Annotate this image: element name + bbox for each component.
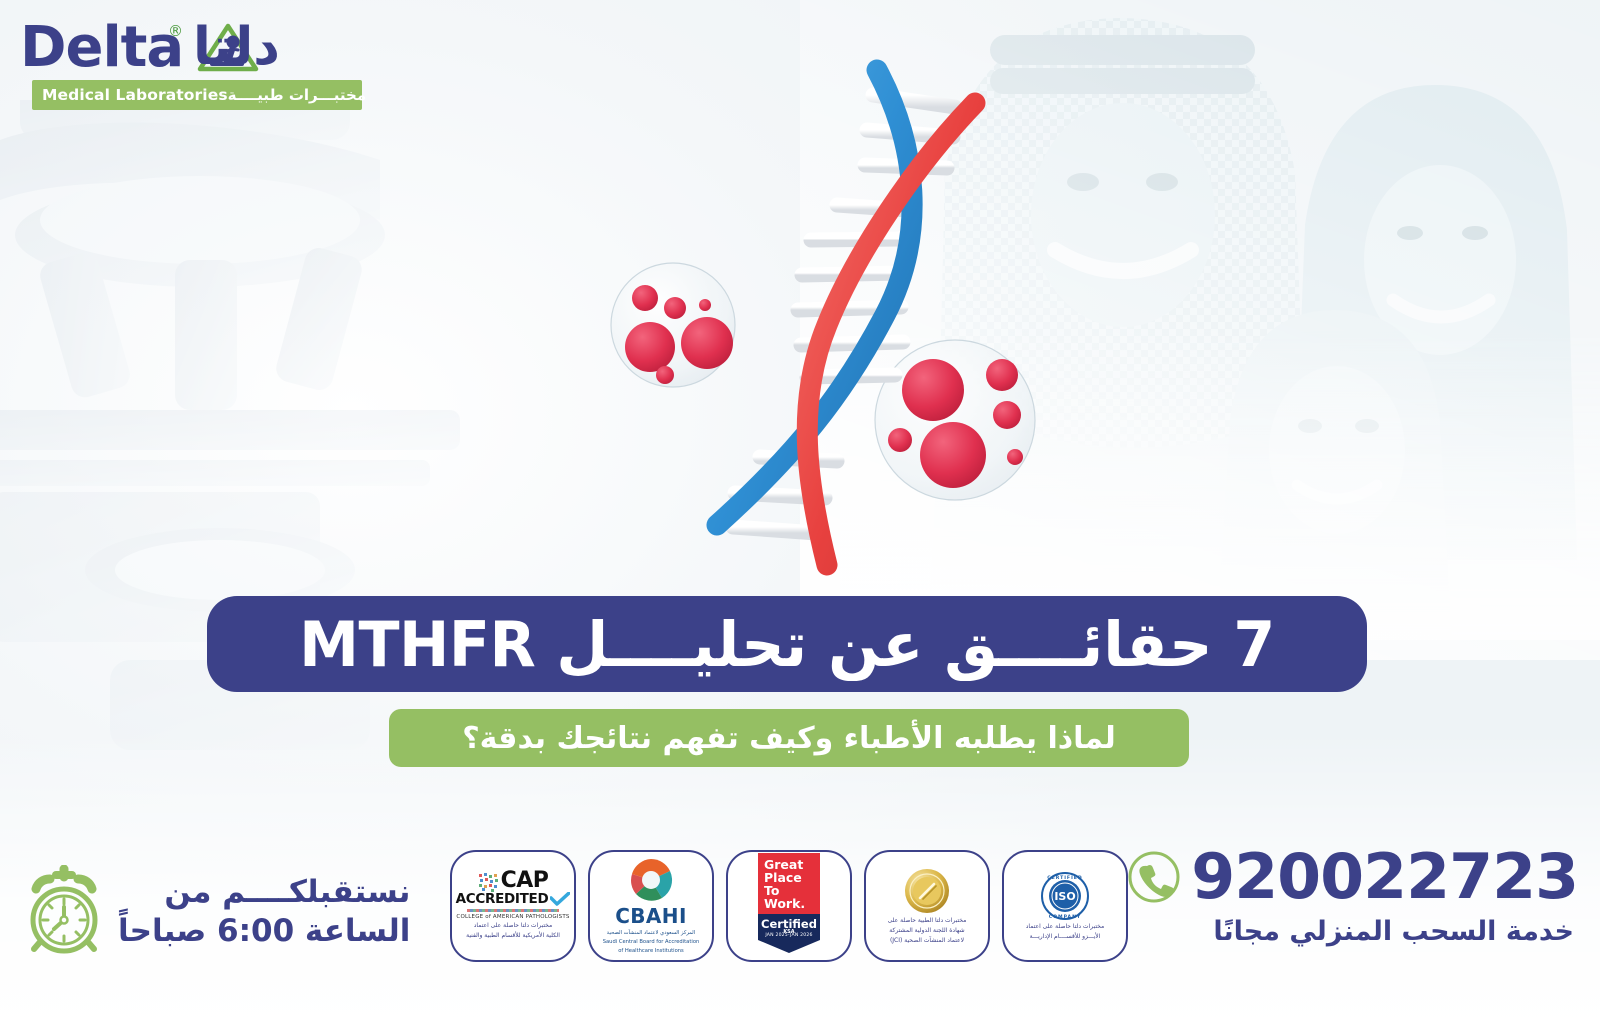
working-hours-block: نستقبلكــــم من الساعة 6:00 صباحاً [22,852,372,972]
brand-tagline-en: Medical Laboratories [42,86,228,104]
cap-dots-icon [478,872,498,892]
jci-caption-ar-2: شهادة اللجنة الدولية المشتركة [889,927,964,935]
brand-wordmark: Delta ® دلتا [18,14,418,76]
iso-caption-ar-2: الأيـــزو للأقســــام الإداريـــة [1030,933,1101,941]
svg-text:Delta: Delta [20,15,183,76]
badge-cbahi[interactable]: CBAHI المركز السعودي لاعتماد المنشآت الص… [588,850,714,962]
banner-canvas: Delta ® دلتا Medical Laboratories مختبــ… [0,0,1600,1032]
cap-title: CAP [501,871,549,892]
iso-seal-bottom: COMPANY [1049,914,1082,920]
phone-number[interactable]: 920022723 [1191,846,1578,908]
svg-text:ISO: ISO [1054,890,1075,903]
contact-block[interactable]: 920022723 خدمة السحب المنزلي مجانًا [1204,846,1574,976]
cbahi-caption-en-1: Saudi Central Board for Accreditation [603,939,700,946]
cell-left [611,263,735,387]
brand-tagline-bar: Medical Laboratories مختبـــرات طبيــــة [32,80,362,110]
cbahi-caption-ar: المركز السعودي لاعتماد المنشآت الصحية [607,930,695,937]
check-icon [550,892,570,906]
iso-certified-seal-icon: ISO CERTIFIED COMPANY [1040,871,1090,921]
headline-text: 7 حقائــــق عن تحليــــل MTHFR [299,608,1275,681]
cbahi-logo-icon [628,857,674,903]
badge-iso[interactable]: ISO CERTIFIED COMPANY مختبرات دلتا حاصلة… [1002,850,1128,962]
footer: نستقبلكــــم من الساعة 6:00 صباحاً [0,832,1600,1032]
subtitle-banner: لماذا يطلبه الأطباء وكيف تفهم نتائجك بدق… [389,709,1189,767]
subtitle-text: لماذا يطلبه الأطباء وكيف تفهم نتائجك بدق… [462,721,1116,756]
accreditation-badges: CAP ACCREDITED COLLEGE of AMERICAN PATHO… [450,850,1140,970]
dna-helix-illustration [555,25,1075,595]
svg-text:دلتا: دلتا [193,17,280,76]
gptw-point [758,940,820,953]
jci-caption-ar-1: مختبرات دلتا الطبية حاصلة على [888,917,967,925]
cap-caption-ar-2: الكلية الأمريكية للأقسام الطبية والفنية [466,932,560,940]
brand-logo[interactable]: Delta ® دلتا Medical Laboratories مختبــ… [18,14,418,112]
svg-text:®: ® [168,22,183,40]
badge-great-place-to-work[interactable]: Great Place To Work. Certified JAN 2025-… [726,850,852,962]
cbahi-caption-en-2: of Healthcare Institutions [618,948,684,955]
jci-caption-ar-3: لاعتماد المنشآت الصحية (JCI) [890,937,964,945]
hours-line-2: الساعة 6:00 صباحاً [118,912,410,951]
cap-caption-en: COLLEGE of AMERICAN PATHOLOGISTS [456,914,569,920]
jci-gold-seal-icon [903,867,951,915]
cap-caption-ar-1: مختبرات دلتا حاصلة على اعتماد [474,922,553,930]
microscope-watermark [0,100,580,800]
iso-seal-top: CERTIFIED [1047,875,1082,881]
brand-tagline-ar: مختبـــرات طبيــــة [228,86,366,104]
badge-cap[interactable]: CAP ACCREDITED COLLEGE of AMERICAN PATHO… [450,850,576,962]
phone-icon [1127,850,1181,904]
gptw-line-4: Work. [764,897,814,910]
home-collection-service-text: خدمة السحب المنزلي مجانًا [1204,916,1574,947]
cap-subtitle: ACCREDITED [456,891,549,907]
gptw-country: KSA [758,929,820,935]
headline-banner: 7 حقائــــق عن تحليــــل MTHFR [207,596,1367,692]
cap-rule [467,909,559,912]
hours-line-1: نستقبلكــــم من [118,873,410,912]
iso-caption-ar-1: مختبرات دلتا حاصلة على اعتماد [1026,923,1105,931]
badge-jci[interactable]: مختبرات دلتا الطبية حاصلة على شهادة اللج… [864,850,990,962]
gptw-line-1: Great [764,858,814,871]
cell-right [875,340,1035,500]
alarm-clock-icon [22,865,106,959]
cbahi-title: CBAHI [615,904,687,928]
